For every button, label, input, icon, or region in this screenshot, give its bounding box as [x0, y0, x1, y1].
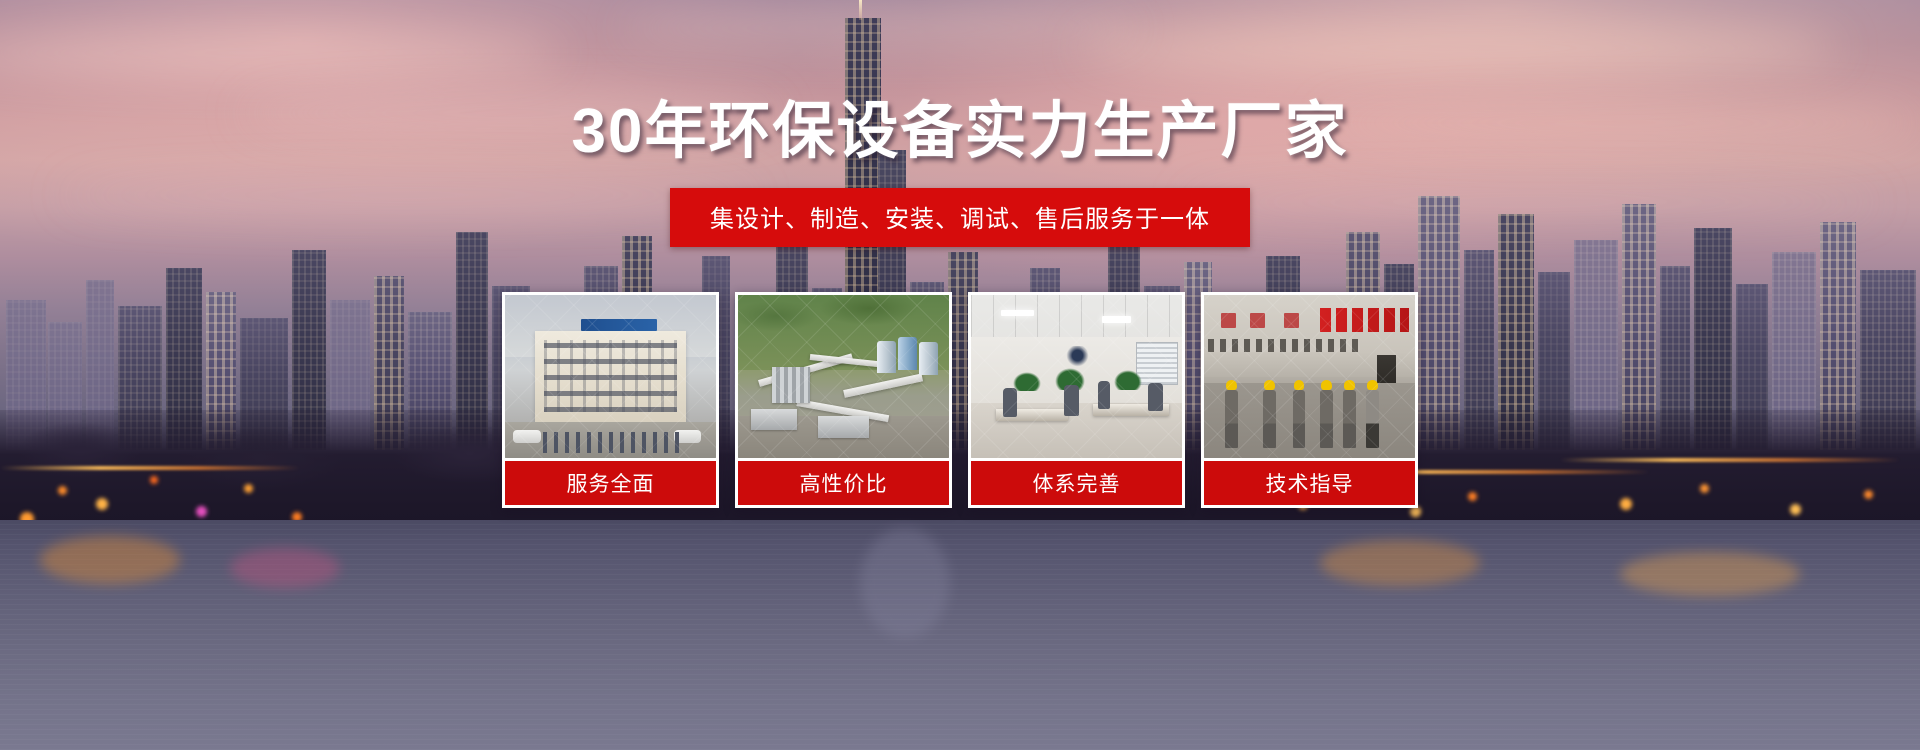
page-title: 30年环保设备实力生产厂家: [572, 101, 1349, 163]
card-image-aerial-plant: [738, 295, 949, 458]
hero-banner: 30年环保设备实力生产厂家 集设计、制造、安装、调试、售后服务于一体 服务全面: [0, 0, 1920, 750]
subtitle-banner: 集设计、制造、安装、调试、售后服务于一体: [670, 188, 1250, 247]
card-caption: 体系完善: [971, 461, 1182, 505]
building-sign: [581, 319, 657, 330]
feature-card[interactable]: 技术指导: [1201, 292, 1418, 508]
card-caption: 服务全面: [505, 461, 716, 505]
factory-banner-text: [1320, 308, 1409, 332]
card-image-workers: [1204, 295, 1415, 458]
card-image-office-interior: [971, 295, 1182, 458]
feature-card[interactable]: 体系完善: [968, 292, 1185, 508]
feature-card[interactable]: 高性价比: [735, 292, 952, 508]
feature-card-list: 服务全面 高性价比: [502, 292, 1418, 508]
card-caption: 高性价比: [738, 461, 949, 505]
feature-card[interactable]: 服务全面: [502, 292, 719, 508]
wall-logo: [1064, 346, 1091, 367]
card-image-office-building: [505, 295, 716, 458]
card-caption: 技术指导: [1204, 461, 1415, 505]
